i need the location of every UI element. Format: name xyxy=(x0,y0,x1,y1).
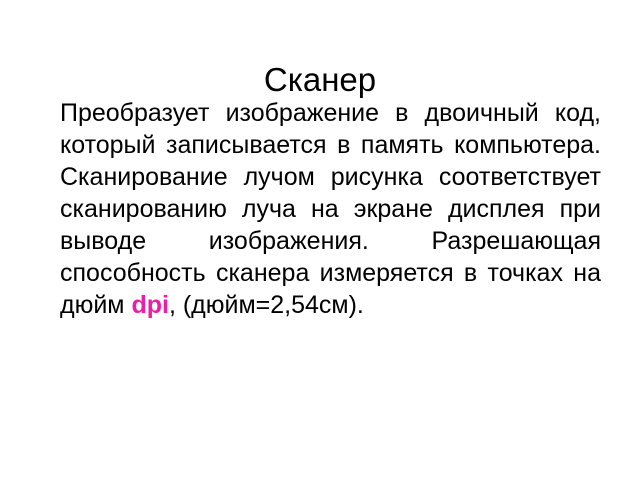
accent-term-dpi: dpi xyxy=(131,291,169,319)
body-paragraph: Преобразует изображение в двоичный код, … xyxy=(60,97,601,321)
slide-canvas: Сканер Преобразует изображение в двоичны… xyxy=(0,0,640,480)
body-lead-text: Преобразует изображение в двоичный код, … xyxy=(60,99,601,319)
slide-body: Преобразует изображение в двоичный код, … xyxy=(60,97,601,321)
page-title: Сканер xyxy=(0,60,640,100)
body-tail-text: , (дюйм=2,54см). xyxy=(169,291,364,319)
